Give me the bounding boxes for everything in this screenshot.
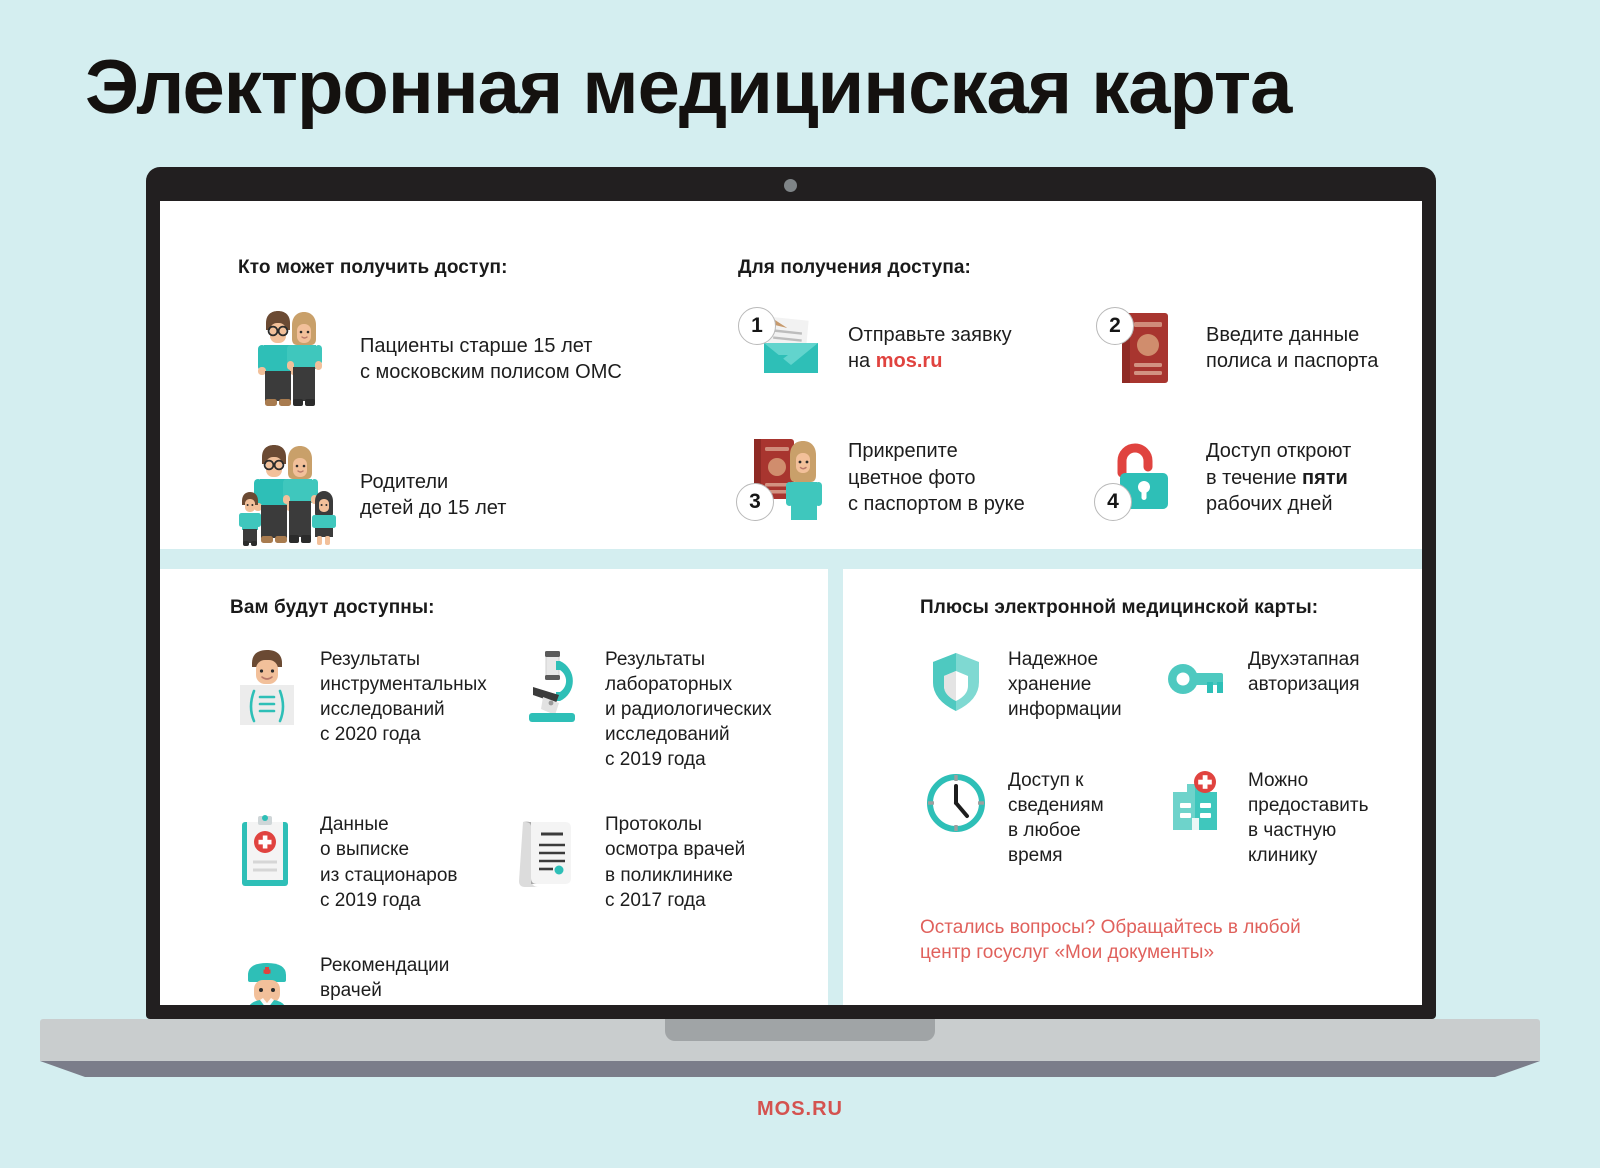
step-number-badge: 3 [736, 483, 774, 521]
list-item: Родители детей до 15 лет [238, 441, 668, 549]
text-line: авторизация [1248, 672, 1360, 697]
document-scroll-icon [515, 810, 589, 894]
mos-ru-logo: MOS.RU [0, 1098, 1600, 1121]
text-line: с 2020 года [320, 722, 487, 747]
infographic-page: Электронная медицинская карта Кто может … [0, 0, 1600, 1168]
text-line: с 2017 года [605, 888, 745, 913]
text-line: из стационаров [320, 863, 458, 888]
webcam-icon [784, 179, 797, 192]
step-2: 2 Введ [1096, 305, 1396, 391]
step-2-line2: полиса и паспорта [1206, 348, 1378, 374]
clipboard-cross-icon [230, 810, 304, 894]
who-item-text: Пациенты старше 15 лет с московским поли… [360, 333, 622, 385]
text-line: с 2019 года [320, 888, 458, 913]
plus-item-text: Надежное хранение информации [1008, 645, 1122, 722]
step-number-badge: 1 [738, 307, 776, 345]
text-line: Результаты [320, 647, 487, 672]
available-item-text: Протоколы осмотра врачей в поликлинике с… [605, 810, 745, 912]
list-item: Результаты лабораторных и радиологически… [515, 645, 805, 772]
available-panel-title: Вам будут доступны: [230, 597, 830, 619]
text-line: исследований [320, 697, 487, 722]
list-item: Пациенты старше 15 лет с московским поли… [238, 305, 668, 413]
passport-photo-icon: 3 [738, 435, 834, 521]
list-item: Надежное хранение информации [920, 645, 1160, 722]
text-line: о выписке [320, 837, 458, 862]
patient-xray-icon [230, 645, 304, 729]
text-line: и радиологических [605, 697, 772, 722]
text-line: с 2019 года [605, 747, 772, 772]
text-line: Результаты [605, 647, 772, 672]
mos-ru-link[interactable]: mos.ru [876, 350, 943, 372]
text-line: в поликлинике [605, 863, 745, 888]
clock-icon [920, 766, 992, 840]
available-grid: Результаты инструментальных исследований… [230, 645, 830, 1005]
who-item-line2: детей до 15 лет [360, 495, 506, 521]
step-4-line2: в течение пяти [1206, 465, 1351, 491]
steps-panel-title: Для получения доступа: [738, 257, 1398, 279]
list-item: Доступ к сведениям в любое время [920, 766, 1160, 868]
step-1-prefix: на [848, 350, 876, 372]
text-line: Доступ к [1008, 768, 1104, 793]
who-item-line1: Родители [360, 469, 506, 495]
step-1-line2: на mos.ru [848, 348, 1012, 374]
text-line: Двухэтапная [1248, 647, 1360, 672]
available-item-text: Результаты инструментальных исследований… [320, 645, 487, 747]
available-item-text: Результаты лабораторных и радиологически… [605, 645, 772, 772]
open-lock-icon: 4 [1096, 435, 1192, 521]
text-line: Можно [1248, 768, 1369, 793]
doctor-icon [230, 951, 304, 1005]
panel-advantages: Плюсы электронной медицинской карты: [920, 597, 1390, 965]
help-note-line2: центр госуслуг «Мои документы» [920, 940, 1350, 965]
who-item-line2: с московским полисом ОМС [360, 359, 622, 385]
text-line: клинику [1248, 843, 1369, 868]
plus-item-text: Можно предоставить в частную клинику [1248, 766, 1369, 868]
text-line: инструментальных [320, 672, 487, 697]
text-line: Протоколы [605, 812, 745, 837]
text-line: в любое [1008, 818, 1104, 843]
key-icon [1160, 645, 1232, 719]
microscope-icon [515, 645, 589, 729]
step-2-text: Введите данные полиса и паспорта [1206, 322, 1378, 375]
help-note: Остались вопросы? Обращайтесь в любой це… [920, 915, 1350, 966]
step-number-badge: 4 [1094, 483, 1132, 521]
passport-icon: 2 [1096, 305, 1192, 391]
step-1-text: Отправьте заявку на mos.ru [848, 322, 1012, 375]
text-line: и план лечения [320, 1003, 515, 1005]
plus-panel-title: Плюсы электронной медицинской карты: [920, 597, 1390, 619]
text-line: Данные [320, 812, 458, 837]
list-item: Рекомендации врачей и план лечения [230, 951, 515, 1005]
steps-grid: 1 [738, 305, 1398, 521]
available-item-text: Данные о выписке из стационаров с 2019 г… [320, 810, 458, 912]
advantages-grid: Надежное хранение информации [920, 645, 1390, 869]
step-4-line2-emphasis: пяти [1302, 467, 1348, 489]
horizontal-divider [160, 549, 1422, 569]
text-line: лабораторных [605, 672, 772, 697]
shield-icon [920, 645, 992, 719]
text-line: информации [1008, 697, 1122, 722]
laptop-base-shadow [40, 1061, 1540, 1077]
hospital-icon [1160, 766, 1232, 840]
step-3: 3 [738, 435, 1096, 521]
panel-available-data: Вам будут доступны: [230, 597, 830, 1005]
list-item: Протоколы осмотра врачей в поликлинике с… [515, 810, 805, 912]
step-3-line2: цветное фото [848, 465, 1025, 491]
panel-who-can-access: Кто может получить доступ: [238, 257, 668, 577]
plus-item-text: Доступ к сведениям в любое время [1008, 766, 1104, 868]
envelope-letter-icon: 1 [738, 305, 834, 391]
list-item: Двухэтапная авторизация [1160, 645, 1390, 722]
available-item-text: Рекомендации врачей и план лечения [320, 951, 515, 1005]
step-2-line1: Введите данные [1206, 322, 1378, 348]
step-3-line3: с паспортом в руке [848, 491, 1025, 517]
step-4-line1: Доступ откроют [1206, 438, 1351, 464]
panel-how-to-access: Для получения доступа: 1 [738, 257, 1398, 521]
text-line: исследований [605, 722, 772, 747]
who-panel-title: Кто может получить доступ: [238, 257, 668, 279]
step-1-line1: Отправьте заявку [848, 322, 1012, 348]
page-title: Электронная медицинская карта [85, 48, 1291, 128]
step-1: 1 [738, 305, 1096, 391]
couple-icon [238, 305, 338, 413]
list-item: Результаты инструментальных исследований… [230, 645, 515, 772]
text-line: Рекомендации врачей [320, 953, 515, 1003]
step-number-badge: 2 [1096, 307, 1134, 345]
step-3-text: Прикрепите цветное фото с паспортом в ру… [848, 438, 1025, 517]
who-item-text: Родители детей до 15 лет [360, 469, 506, 521]
family-icon [238, 441, 338, 549]
screen-top-area: Кто может получить доступ: [160, 201, 1422, 549]
text-line: хранение [1008, 672, 1122, 697]
step-4-line3: рабочих дней [1206, 491, 1351, 517]
screen-bottom-area: Вам будут доступны: [160, 569, 1422, 1005]
plus-item-text: Двухэтапная авторизация [1248, 645, 1360, 697]
laptop-hinge-notch [665, 1019, 935, 1041]
laptop-screen: Кто может получить доступ: [160, 201, 1422, 1005]
text-line: сведениям [1008, 793, 1104, 818]
step-4-line2-prefix: в течение [1206, 467, 1302, 489]
text-line: время [1008, 843, 1104, 868]
step-4: 4 Доступ откроют в течение п [1096, 435, 1396, 521]
text-line: осмотра врачей [605, 837, 745, 862]
text-line: в частную [1248, 818, 1369, 843]
who-item-line1: Пациенты старше 15 лет [360, 333, 622, 359]
list-item: Можно предоставить в частную клинику [1160, 766, 1390, 868]
help-note-line1: Остались вопросы? Обращайтесь в любой [920, 915, 1350, 940]
text-line: предоставить [1248, 793, 1369, 818]
text-line: Надежное [1008, 647, 1122, 672]
laptop-frame: Кто может получить доступ: [146, 167, 1436, 1019]
list-item: Данные о выписке из стационаров с 2019 г… [230, 810, 515, 912]
step-3-line1: Прикрепите [848, 438, 1025, 464]
step-4-text: Доступ откроют в течение пяти рабочих дн… [1206, 438, 1351, 517]
